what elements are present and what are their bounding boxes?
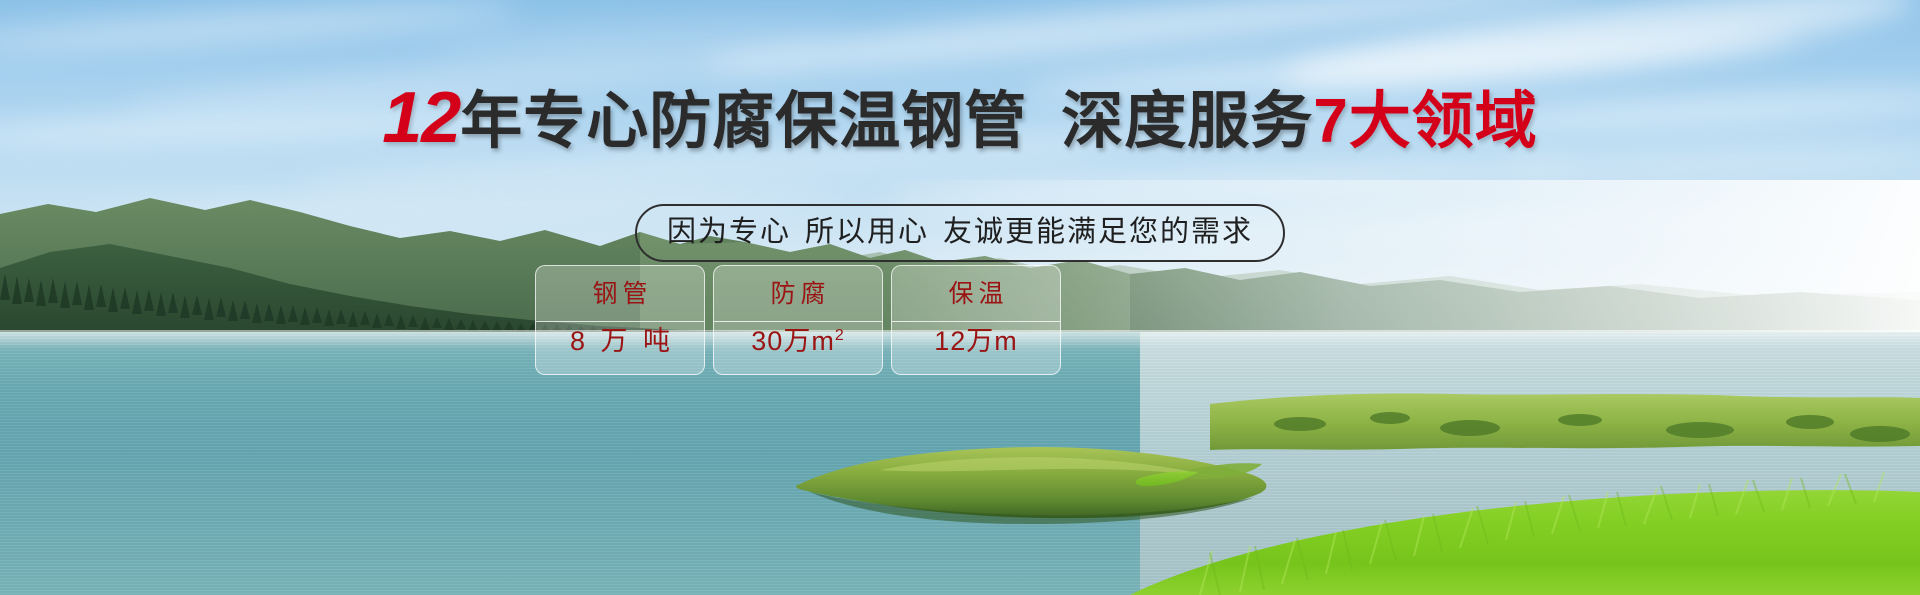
subtitle-segment-3: 友诚更能满足您的需求 <box>943 216 1253 248</box>
stat-value-superscript: 2 <box>835 327 845 344</box>
subtitle-segment-1: 因为专心 <box>667 216 791 248</box>
headline-fields-number: 7 <box>1313 87 1348 156</box>
stat-card-group: 钢管 8 万 吨 防腐 30万m2 保温 12万m <box>535 265 1061 375</box>
headline-part-one: 年专心防腐保温钢管 <box>460 87 1027 156</box>
subtitle-pill: 因为专心所以用心友诚更能满足您的需求 <box>635 204 1285 262</box>
stat-value-text: 8 万 吨 <box>570 326 674 356</box>
stat-card-steel-pipe[interactable]: 钢管 8 万 吨 <box>535 265 705 375</box>
headline-part-three-red: 大领域 <box>1349 87 1538 156</box>
hero-banner: 12年专心防腐保温钢管深度服务7大领域 因为专心所以用心友诚更能满足您的需求 钢… <box>0 0 1920 595</box>
stat-card-value: 30万m2 <box>751 325 844 357</box>
stat-card-value: 12万m <box>934 325 1018 357</box>
stat-card-insulation[interactable]: 保温 12万m <box>891 265 1061 375</box>
stat-card-title: 防腐 <box>765 278 830 310</box>
headline-part-two: 深度服务 <box>1061 87 1313 156</box>
banner-headline: 12年专心防腐保温钢管深度服务7大领域 <box>0 82 1920 158</box>
stat-card-title: 钢管 <box>587 278 652 310</box>
stat-value-text: 12万m <box>934 326 1018 356</box>
stat-card-anticorrosion[interactable]: 防腐 30万m2 <box>713 265 883 375</box>
subtitle-segment-2: 所以用心 <box>805 216 929 248</box>
subtitle-wrapper: 因为专心所以用心友诚更能满足您的需求 <box>0 204 1920 262</box>
stat-card-value: 8 万 吨 <box>566 325 674 357</box>
stat-card-title: 保温 <box>943 278 1008 310</box>
foreground-grass <box>1130 490 1920 595</box>
stat-value-text: 30万m <box>751 326 835 356</box>
headline-years-number: 12 <box>382 78 460 158</box>
